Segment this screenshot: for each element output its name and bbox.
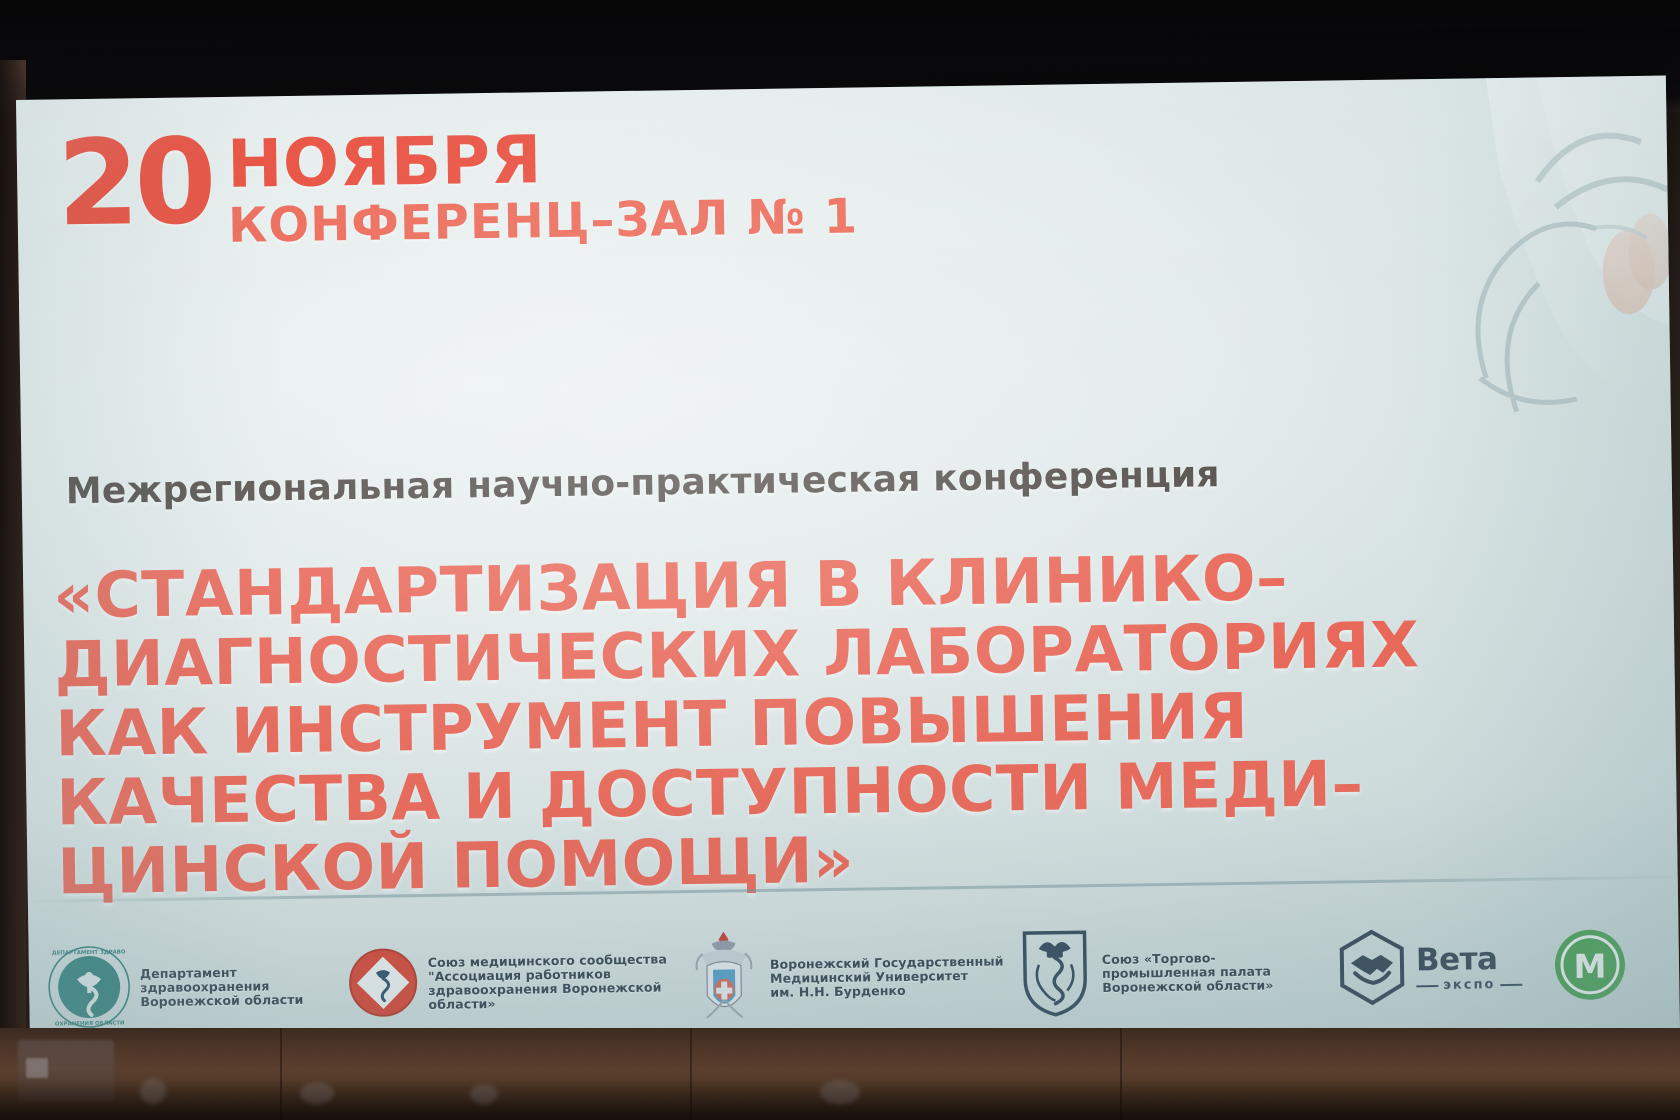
doctor-with-glasses-photo bbox=[1236, 76, 1672, 512]
veta-wordmark: Вета bbox=[1416, 941, 1498, 978]
foreground-object bbox=[300, 1082, 334, 1104]
foreground-object bbox=[820, 1080, 860, 1104]
logo-chamber-of-commerce: Союз «Торгово- промышленная палата Ворон… bbox=[1016, 922, 1337, 1024]
shield-caduceus-icon bbox=[1016, 926, 1093, 1024]
date-day: 20 bbox=[56, 127, 212, 238]
logo-medical-community-union-text: Союз медицинского сообщества "Ассоциация… bbox=[428, 952, 668, 1012]
date-block: 20 НОЯБРЯ КОНФЕРЕНЦ–ЗАЛ № 1 bbox=[56, 118, 858, 257]
handshake-hexagon-icon bbox=[1336, 928, 1407, 1012]
red-circle-diamond-snake-icon bbox=[347, 946, 420, 1024]
svg-text:ОХРАНЕНИЯ ОБЛАСТИ: ОХРАНЕНИЯ ОБЛАСТИ bbox=[55, 1020, 125, 1027]
logo-medical-community-union: Союз медицинского сообщества "Ассоциация… bbox=[347, 942, 688, 1024]
veta-rule-right bbox=[1500, 983, 1522, 985]
logo-veta-expo: Вета экспо bbox=[1336, 926, 1552, 1012]
projection-screen: 20 НОЯБРЯ КОНФЕРЕНЦ–ЗАЛ № 1 Межрегиональ… bbox=[16, 76, 1680, 1088]
event-subtitle: Межрегиональная научно-практическая конф… bbox=[66, 454, 1220, 512]
logo-department-of-health: ДЕПАРТАМЕНТ ЗДРАВО ОХРАНЕНИЯ ОБЛАСТИ Деп… bbox=[47, 941, 348, 1034]
svg-text:ДЕПАРТАМЕНТ ЗДРАВО: ДЕПАРТАМЕНТ ЗДРАВО bbox=[52, 949, 126, 956]
logo-burdenko-medical-university: Воронежский Государственный Медицинский … bbox=[686, 925, 1017, 1031]
conference-title: «СТАНДАРТИЗАЦИЯ В КЛИНИКО– ДИАГНОСТИЧЕСК… bbox=[53, 538, 1648, 907]
logo-m: М bbox=[1551, 925, 1642, 1007]
veta-wordmark-group: Вета экспо bbox=[1416, 944, 1523, 994]
heraldic-coat-of-arms-icon bbox=[686, 929, 761, 1031]
logo-department-of-health-text: Департамент здравоохранения Воронежской … bbox=[140, 965, 304, 1009]
veta-submark-text: экспо bbox=[1443, 977, 1495, 993]
svg-text:М: М bbox=[1573, 946, 1606, 985]
logo-burdenko-medical-university-text: Воронежский Государственный Медицинский … bbox=[770, 954, 1004, 999]
logo-chamber-of-commerce-text: Союз «Торгово- промышленная палата Ворон… bbox=[1102, 950, 1274, 995]
date-month: НОЯБРЯ bbox=[227, 124, 858, 198]
caduceus-bowl-circle-icon: ДЕПАРТАМЕНТ ЗДРАВО ОХРАНЕНИЯ ОБЛАСТИ bbox=[47, 944, 132, 1034]
green-circle-m-icon: М bbox=[1551, 926, 1628, 1008]
foreground-object bbox=[470, 1084, 498, 1104]
veta-rule-left bbox=[1416, 984, 1438, 986]
conference-hall-label: КОНФЕРЕНЦ–ЗАЛ № 1 bbox=[228, 188, 859, 254]
foreground-object bbox=[140, 1078, 166, 1104]
laptop-screen-glow bbox=[26, 1058, 48, 1078]
veta-submark: экспо bbox=[1416, 977, 1522, 994]
